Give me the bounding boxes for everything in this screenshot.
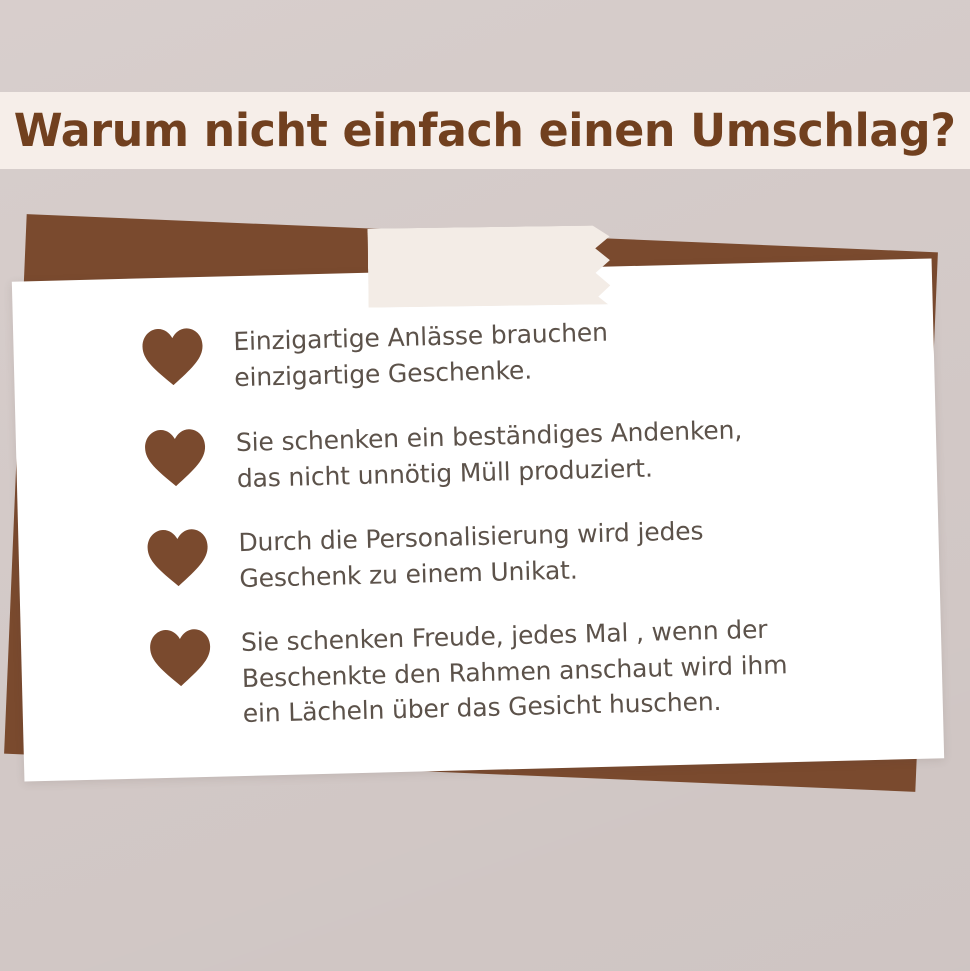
- list-item-text: Einzigartige Anlässe brauchen einzigarti…: [233, 313, 609, 395]
- list-item-text: Sie schenken Freude, jedes Mal , wenn de…: [241, 609, 789, 731]
- slide-canvas: Einzigartige Anlässe brauchen einzigarti…: [0, 0, 970, 971]
- list-item: Einzigartige Anlässe brauchen einzigarti…: [141, 305, 895, 397]
- list-item: Sie schenken Freude, jedes Mal , wenn de…: [149, 606, 904, 733]
- list-item-text: Sie schenken ein beständiges Andenken, d…: [235, 410, 743, 496]
- page-title: Warum nicht einfach einen Umschlag?: [0, 108, 956, 153]
- white-note-card: Einzigartige Anlässe brauchen einzigarti…: [12, 258, 944, 781]
- heart-icon: [146, 528, 209, 588]
- heart-icon: [141, 327, 204, 387]
- heart-icon: [144, 428, 207, 488]
- benefits-list: Einzigartige Anlässe brauchen einzigarti…: [12, 258, 944, 781]
- list-item-text: Durch die Personalisierung wird jedes Ge…: [238, 511, 705, 596]
- title-banner: Warum nicht einfach einen Umschlag?: [0, 92, 970, 169]
- list-item: Sie schenken ein beständiges Andenken, d…: [143, 406, 897, 498]
- heart-icon: [149, 628, 212, 688]
- list-item: Durch die Personalisierung wird jedes Ge…: [146, 506, 900, 598]
- washi-tape: [367, 225, 610, 307]
